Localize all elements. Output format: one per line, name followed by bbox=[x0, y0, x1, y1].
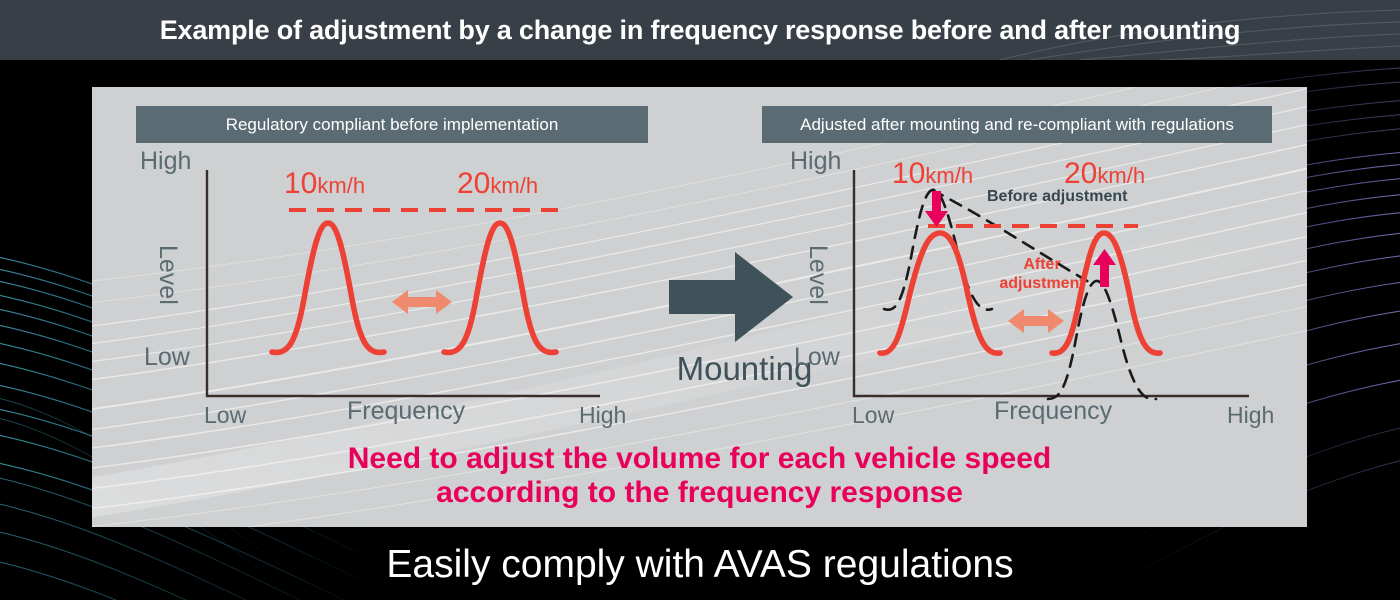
frequency-shift-arrow-left bbox=[392, 290, 452, 314]
footer-tagline: Easily comply with AVAS regulations bbox=[0, 530, 1400, 600]
curve-20kmh-left bbox=[444, 223, 556, 352]
header-band: Example of adjustment by a change in fre… bbox=[0, 0, 1400, 60]
after-adjustment-line1: After bbox=[982, 255, 1102, 274]
peak-label-10kmh-right: 10km/h bbox=[892, 157, 973, 191]
peak-label-20kmh-right: 20km/h bbox=[1064, 157, 1145, 191]
page-title: Example of adjustment by a change in fre… bbox=[0, 0, 1400, 60]
after-adjustment-annotation: After adjustment bbox=[982, 255, 1102, 293]
curve-10kmh-after-right bbox=[880, 233, 1000, 353]
frequency-shift-arrow-right bbox=[1008, 309, 1064, 333]
curve-10kmh-left bbox=[272, 223, 384, 352]
content-panel: Regulatory compliant before implementati… bbox=[92, 87, 1307, 527]
peak-label-10kmh-left: 10km/h bbox=[284, 167, 365, 201]
before-adjustment-annotation: Before adjustment bbox=[987, 188, 1127, 206]
peak-label-20kmh-left: 20km/h bbox=[457, 167, 538, 201]
after-adjustment-line2: adjustment bbox=[982, 274, 1102, 293]
conclusion-line-2: according to the frequency response bbox=[92, 476, 1307, 510]
decrease-arrow-icon bbox=[925, 191, 948, 227]
conclusion-line-1: Need to adjust the volume for each vehic… bbox=[92, 442, 1307, 476]
axis-lines-left bbox=[207, 170, 600, 396]
conclusion-text: Need to adjust the volume for each vehic… bbox=[92, 442, 1307, 510]
slide-root: Example of adjustment by a change in fre… bbox=[0, 0, 1400, 600]
